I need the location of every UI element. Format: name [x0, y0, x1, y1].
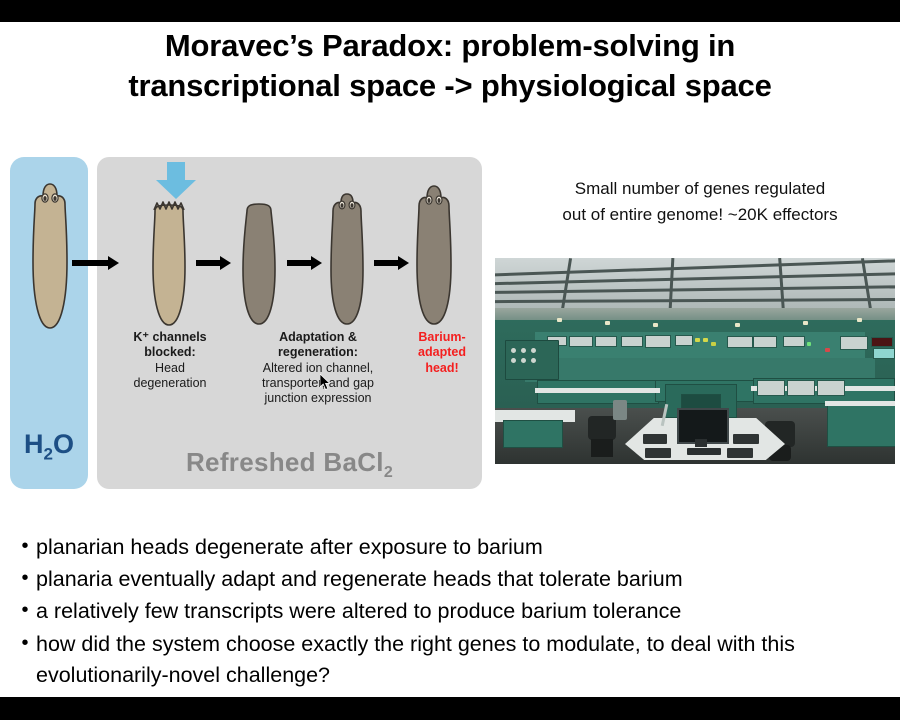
trash-bin — [613, 400, 627, 420]
caption-2-body-2: transporter, and gap — [238, 376, 398, 391]
h2o-label: H2O — [10, 429, 88, 464]
list-item: • planaria eventually adapt and regenera… — [14, 564, 884, 595]
panel-indicator-amber — [695, 338, 700, 342]
bullet-marker: • — [14, 532, 36, 561]
planarian-worm-barium-adapted — [414, 183, 454, 327]
planarian-worm-regenerating-head — [327, 190, 367, 327]
flow-arrow-3 — [287, 256, 323, 269]
desk-mat — [645, 448, 671, 458]
desk-keyboard — [687, 448, 721, 455]
caption-1-body-1: Head — [110, 361, 230, 376]
ceiling-light — [735, 323, 740, 327]
office-chair-left-base — [591, 439, 613, 457]
ceiling-light — [653, 323, 658, 327]
h2o-o: O — [53, 429, 74, 459]
ceiling-light — [605, 321, 610, 325]
genes-note-line-1: Small number of genes regulated — [505, 176, 895, 202]
caption-3-line-3: head! — [406, 361, 478, 376]
desk-monitor-stand — [695, 439, 707, 447]
bullet-text: planarian heads degenerate after exposur… — [36, 532, 884, 563]
list-item: • planarian heads degenerate after expos… — [14, 532, 884, 563]
desk-mat — [727, 448, 753, 458]
bullet-text: a relatively few transcripts were altere… — [36, 596, 884, 627]
title-line-1: Moravec’s Paradox: problem-solving in — [165, 28, 735, 63]
caption-3-line-1: Barium- — [406, 330, 478, 345]
monitor-bank-screen — [787, 380, 815, 396]
genes-note-line-2: out of entire genome! ~20K effectors — [505, 202, 895, 228]
top-black-bar — [0, 0, 900, 22]
side-cabinet-right-top — [825, 401, 895, 406]
list-item: • a relatively few transcripts were alte… — [14, 596, 884, 627]
panel-instrument — [753, 336, 777, 348]
panel-instrument — [569, 336, 593, 347]
flow-arrow-4 — [374, 256, 410, 269]
caption-adaptation-regeneration: Adaptation & regeneration: Altered ion c… — [238, 330, 398, 406]
panel-indicator-amber — [703, 338, 708, 342]
title-line-2: transcriptional space -> physiological s… — [0, 66, 900, 106]
bullet-text: planaria eventually adapt and regenerate… — [36, 564, 884, 595]
control-room-photo — [495, 258, 895, 464]
caption-1-body-2: degeneration — [110, 376, 230, 391]
genes-regulated-note: Small number of genes regulated out of e… — [505, 176, 895, 229]
side-cabinet-left — [503, 420, 563, 448]
monitor-bank-screen — [817, 380, 845, 396]
planarian-barium-diagram: K⁺ channels blocked: Head degeneration A… — [10, 157, 482, 489]
panel-instrument — [595, 336, 617, 347]
caption-1-bold-1: K⁺ channels — [110, 330, 230, 345]
caption-3-line-2: adapted — [406, 345, 478, 360]
panel-knob — [511, 358, 516, 363]
panel-instrument — [675, 335, 693, 346]
caption-2-bold-2: regeneration: — [238, 345, 398, 360]
bacl2-sub: 2 — [384, 464, 393, 481]
h2o-h: H — [24, 429, 44, 459]
caption-2-bold-1: Adaptation & — [238, 330, 398, 345]
ceiling-light — [803, 321, 808, 325]
ceiling-light — [857, 318, 862, 322]
side-cabinet-right — [827, 403, 895, 447]
bullet-marker: • — [14, 564, 36, 593]
panel-indicator-green — [807, 342, 811, 346]
panel-instrument — [621, 336, 643, 347]
bullet-marker: • — [14, 596, 36, 625]
desk-mat — [733, 434, 759, 444]
panel-knob — [521, 358, 526, 363]
bacl2-label: Refreshed BaCl2 — [97, 447, 482, 482]
office-chair-left — [588, 416, 616, 440]
h2o-sub: 2 — [44, 444, 53, 463]
panel-instrument — [840, 336, 868, 350]
planarian-worm-intact-water — [30, 182, 70, 332]
blue-down-arrow-icon — [153, 162, 199, 200]
list-item: • how did the system choose exactly the … — [14, 629, 884, 691]
monitor-bank-screen — [757, 380, 785, 396]
panel-indicator-red — [825, 348, 830, 352]
caption-barium-adapted-head: Barium- adapted head! — [406, 330, 478, 376]
planarian-worm-head-degenerated — [149, 197, 189, 328]
panel-knob — [531, 358, 536, 363]
panel-knob — [531, 348, 536, 353]
panel-knob — [521, 348, 526, 353]
caption-1-bold-2: blocked: — [110, 345, 230, 360]
caption-k-channels-blocked: K⁺ channels blocked: Head degeneration — [110, 330, 230, 391]
planarian-worm-blunt-dark — [239, 199, 279, 327]
flow-arrow-2 — [196, 256, 232, 269]
desk-mat — [643, 434, 667, 444]
panel-display-cyan — [873, 348, 895, 359]
caption-2-body-1: Altered ion channel, — [238, 361, 398, 376]
panel-instrument — [727, 336, 753, 348]
panel-instrument — [783, 336, 805, 347]
console-ledge-left — [535, 388, 660, 393]
bacl2-text: Refreshed BaCl — [186, 447, 384, 477]
panel-indicator-amber — [711, 342, 716, 346]
flow-arrow-1 — [72, 256, 120, 269]
panel-display-red — [871, 337, 893, 347]
slide-title: Moravec’s Paradox: problem-solving in tr… — [0, 26, 900, 107]
panel-knob — [511, 348, 516, 353]
panel-instrument — [645, 335, 671, 348]
mouse-cursor — [320, 374, 332, 392]
bullet-list: • planarian heads degenerate after expos… — [14, 532, 884, 692]
caption-2-body-3: junction expression — [238, 391, 398, 406]
ceiling-light — [557, 318, 562, 322]
bullet-marker: • — [14, 629, 36, 658]
bullet-text: how did the system choose exactly the ri… — [36, 629, 884, 691]
bottom-black-bar — [0, 697, 900, 720]
